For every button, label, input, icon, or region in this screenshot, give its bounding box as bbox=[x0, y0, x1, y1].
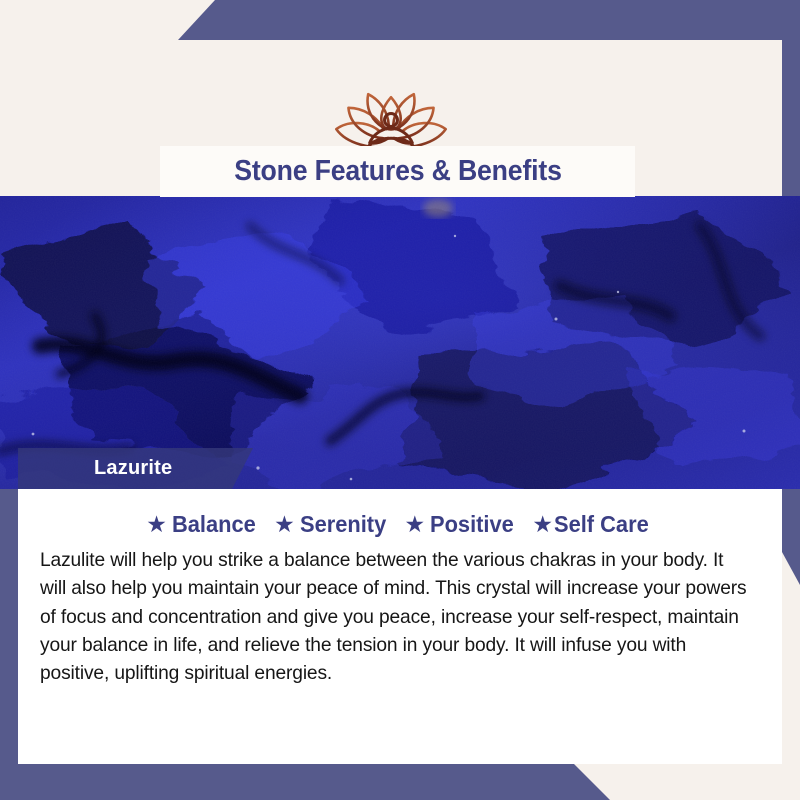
star-icon: ★ bbox=[274, 513, 295, 536]
poster-root: BUDDHA STONES Stone Features & Benefits bbox=[0, 0, 800, 800]
benefit-item-positive: ★ Positive bbox=[405, 511, 519, 538]
frame-top-band bbox=[0, 0, 800, 40]
star-icon: ★ bbox=[405, 513, 426, 536]
stone-name: Lazurite bbox=[94, 457, 172, 480]
benefit-label: Self Care bbox=[554, 511, 649, 538]
star-icon: ★ bbox=[146, 513, 167, 536]
header: BUDDHA STONES bbox=[0, 40, 782, 147]
frame-bottom-band bbox=[0, 762, 640, 800]
benefit-item-serenity: ★ Serenity bbox=[274, 511, 390, 538]
page-title: Stone Features & Benefits bbox=[234, 155, 562, 188]
benefit-item-self-care: ★ Self Care bbox=[532, 511, 653, 538]
benefit-item-balance: ★ Balance bbox=[146, 511, 260, 538]
lazurite-stone-photo bbox=[0, 196, 800, 489]
benefit-label: Positive bbox=[430, 511, 514, 538]
content-card: ★ Balance ★ Serenity ★ Positive ★ Self C… bbox=[18, 489, 782, 764]
benefit-label: Balance bbox=[172, 511, 256, 538]
stone-description: Lazulite will help you strike a balance … bbox=[40, 546, 749, 687]
hero-image bbox=[0, 196, 800, 489]
stone-name-tag: Lazurite bbox=[18, 448, 253, 489]
benefits-list: ★ Balance ★ Serenity ★ Positive ★ Self C… bbox=[40, 511, 760, 538]
star-icon: ★ bbox=[532, 513, 553, 536]
benefit-label: Serenity bbox=[300, 511, 386, 538]
frame-left-band bbox=[0, 487, 18, 800]
title-banner: Stone Features & Benefits bbox=[160, 146, 635, 197]
